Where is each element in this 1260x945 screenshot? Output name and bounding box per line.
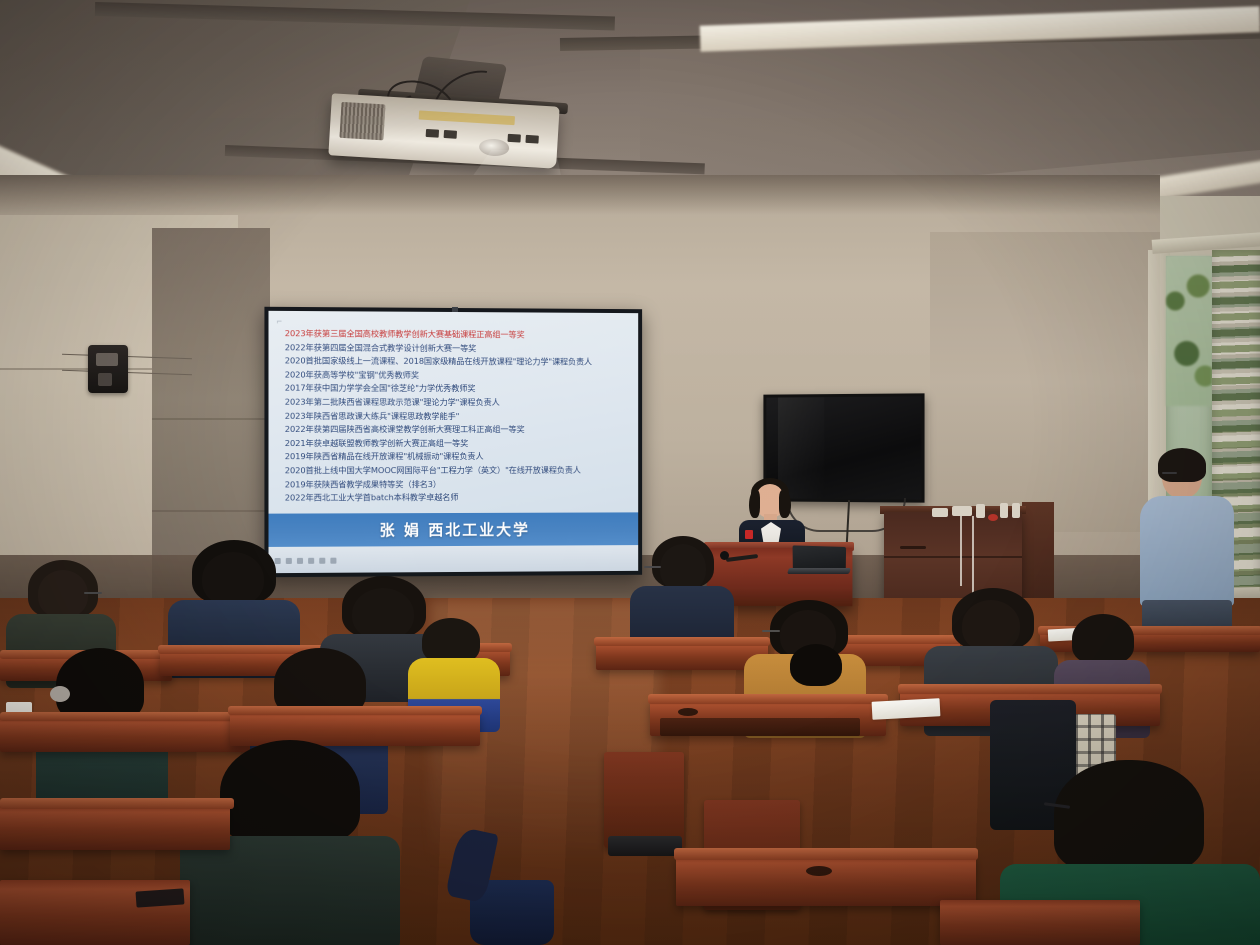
slide-line: 2023年陕西省思政课大练兵"课程思政教学能手" — [285, 409, 629, 422]
wall-seam — [152, 510, 270, 512]
bench-desk-top — [0, 712, 254, 721]
person-hair — [1054, 760, 1204, 872]
taskbar-icon — [308, 558, 314, 564]
slide-footer-text: 张 娟 西北工业大学 — [380, 519, 530, 541]
bench-desk-top — [648, 694, 888, 704]
person-hair — [220, 740, 360, 844]
person-head — [38, 570, 88, 618]
presenter-hair-side — [779, 490, 791, 518]
desk-cable-grommet — [678, 708, 698, 716]
projector-port — [444, 130, 457, 139]
taskbar-icon — [319, 558, 325, 564]
lecture-hall-scene: ⌐ 2023年获第三届全国高校教师教学创新大赛基础课程正高组一等奖 2022年获… — [0, 0, 1260, 945]
chair-seat[interactable] — [608, 836, 682, 856]
taskbar-icon — [330, 558, 336, 564]
slide-line: 2023年获第三届全国高校教师教学创新大赛基础课程正高组一等奖 — [285, 327, 629, 341]
cabinet-indicator — [988, 514, 998, 521]
wall-seam — [152, 418, 270, 420]
glasses-icon — [644, 566, 661, 568]
slide-line: 2022年西北工业大学首batch本科教学卓越名师 — [285, 491, 629, 505]
person-hair — [1158, 448, 1206, 482]
wall-speaker-icon — [88, 345, 128, 393]
presenter-badge — [745, 530, 753, 539]
slide-surface: ⌐ 2023年获第三届全国高校教师教学创新大赛基础课程正高组一等奖 2022年获… — [269, 311, 639, 573]
smartphone[interactable] — [136, 888, 185, 907]
slide-line: 2020首批国家级线上一流课程、2018国家级精品在线开放课程"理论力学"课程负… — [285, 354, 629, 368]
person-head — [660, 544, 706, 592]
slide-line: 2019年陕西省精品在线开放课程"机械振动"课程负责人 — [285, 450, 629, 463]
bench-desk[interactable] — [676, 856, 976, 906]
projector-port — [525, 135, 538, 144]
projector-vent — [339, 102, 385, 141]
slide-line: 2020年获高等学校"宝钢"优秀教师奖 — [285, 368, 629, 382]
bench-desk-top — [228, 706, 482, 715]
slide-footer-band: 张 娟 西北工业大学 — [269, 512, 639, 547]
right-wall — [930, 232, 1160, 532]
person-ponytail — [790, 644, 842, 686]
laptop-base[interactable] — [787, 568, 851, 574]
handout-papers[interactable] — [872, 698, 941, 720]
projector-label-strip — [419, 110, 515, 125]
cabinet-item — [932, 508, 948, 517]
slide-line: 2020首批上线中国大学MOOC网国际平台"工程力学（英文）"在线开放课程负责人 — [285, 464, 629, 477]
cabinet-item — [1000, 503, 1008, 518]
person-hair — [1072, 614, 1134, 664]
slide-line: 2019年获陕西省教学成果特等奖（排名3） — [285, 477, 629, 490]
glasses-icon — [84, 592, 102, 594]
standing-person — [1138, 452, 1234, 642]
bench-desk-top — [898, 684, 1162, 694]
projector-lens — [479, 138, 510, 157]
bench-desk[interactable] — [0, 806, 230, 850]
cabinet-handle[interactable] — [900, 546, 926, 549]
bench-desk[interactable] — [940, 900, 1140, 945]
person-head — [352, 588, 414, 640]
bench-desk-top — [0, 798, 234, 809]
person-head — [202, 552, 264, 606]
projector-port — [426, 129, 439, 138]
slide-line: 2017年获中国力学学会全国"徐芝纶"力学优秀教师奖 — [285, 382, 629, 395]
cabinet-seam — [884, 556, 1022, 558]
screen-corner-mark: ⌐ — [277, 316, 282, 326]
slide-achievement-list: 2023年获第三届全国高校教师教学创新大赛基础课程正高组一等奖 2022年获第四… — [285, 327, 629, 504]
person-shirt — [1140, 496, 1234, 606]
bench-desk-top — [674, 848, 978, 860]
person-head — [962, 600, 1020, 652]
hair-tie — [50, 686, 70, 702]
projection-screen[interactable]: ⌐ 2023年获第三届全国高校教师教学创新大赛基础课程正高组一等奖 2022年获… — [264, 307, 642, 577]
person-top — [180, 836, 400, 945]
presenter-hair-side — [749, 490, 760, 518]
slide-line: 2022年获第四届陕西省高校课堂教学创新大赛理工科正高组一等奖 — [285, 423, 629, 436]
desk-front-panel — [660, 718, 860, 736]
cabinet-item — [952, 506, 972, 516]
chair-back[interactable] — [604, 752, 684, 848]
person-hair — [56, 648, 144, 722]
slide-line: 2022年获第四届全国混合式教学设计创新大赛一等奖 — [285, 341, 629, 355]
glasses-icon — [762, 630, 780, 632]
glasses-icon — [1162, 472, 1177, 474]
bench-desk[interactable] — [596, 642, 768, 670]
window-foliage — [1166, 256, 1212, 406]
wall-shadow — [0, 175, 1160, 215]
cabinet-item — [1012, 503, 1020, 518]
desk-cable-grommet — [806, 866, 832, 876]
slide-line: 2021年获卓越联盟教师教学创新大赛正高组一等奖 — [285, 437, 629, 450]
slide-line: 2023年第二批陕西省课程思政示范课"理论力学"课程负责人 — [285, 396, 629, 409]
projector-port — [507, 134, 520, 143]
